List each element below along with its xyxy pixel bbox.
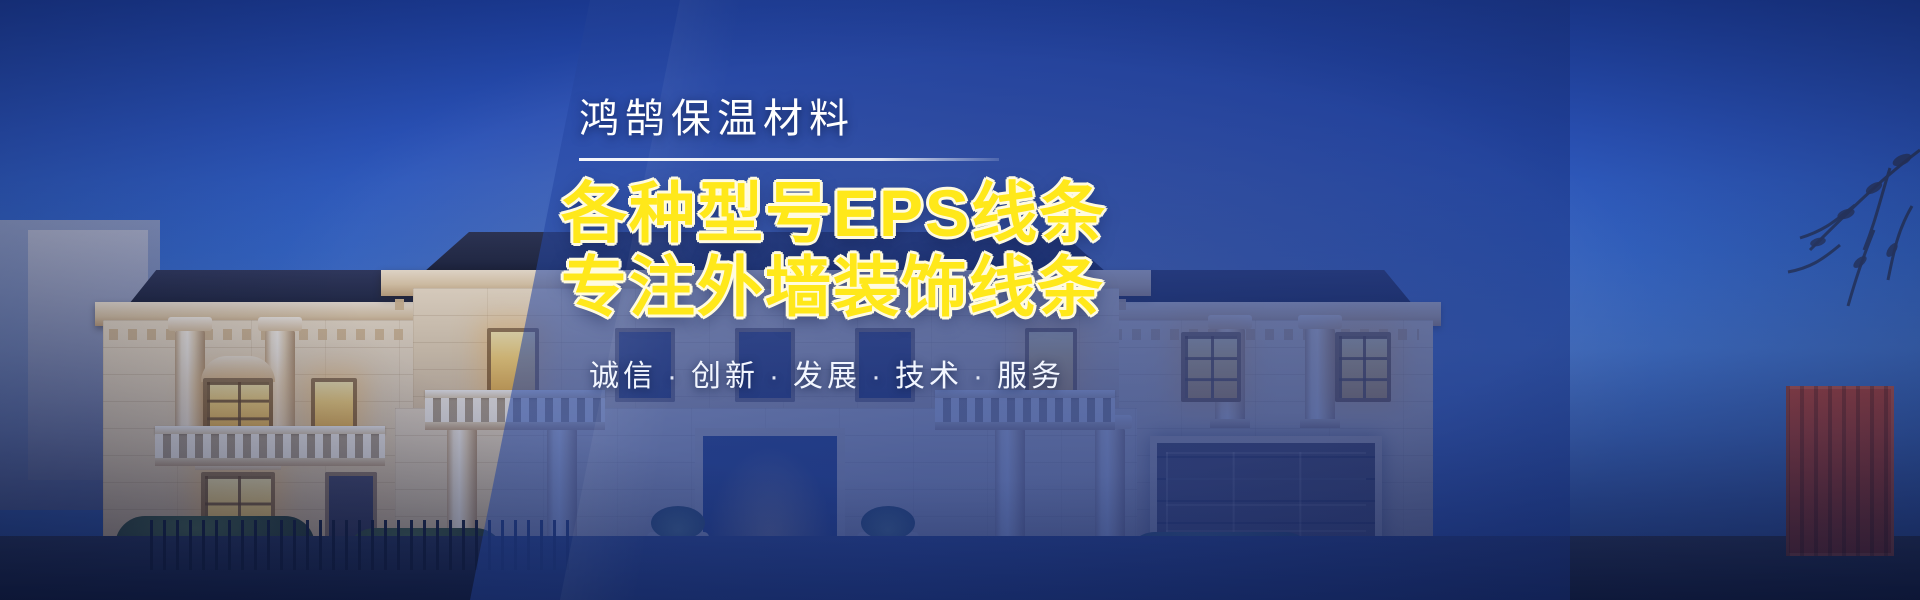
tagline-item: 创新: [691, 360, 759, 393]
tagline-item: 诚信: [589, 360, 657, 393]
iron-fence: [150, 520, 570, 570]
tagline-separator: ·: [769, 360, 783, 393]
red-container: [1786, 386, 1894, 556]
balustrade: [935, 390, 1115, 430]
tree-branch-icon: [1650, 110, 1920, 360]
tagline-separator: ·: [667, 360, 681, 393]
tagline-item: 服务: [997, 360, 1065, 393]
balustrade: [425, 390, 605, 430]
balustrade-rail: [155, 434, 385, 458]
divider-rule: [579, 158, 999, 161]
tagline-separator: ·: [871, 360, 885, 393]
tagline-item: 技术: [895, 360, 963, 393]
headline: 各种型号EPS线条 专注外墙装饰线条: [555, 177, 1455, 325]
tagline-separator: ·: [973, 360, 987, 393]
banner-text-block: 鸿鹄保温材料 各种型号EPS线条 专注外墙装饰线条 诚信·创新·发展·技术·服务: [555, 96, 1455, 395]
brand-name: 鸿鹄保温材料: [555, 96, 1455, 142]
hero-banner: 鸿鹄保温材料 各种型号EPS线条 专注外墙装饰线条 诚信·创新·发展·技术·服务: [0, 0, 1920, 600]
headline-line-2: 专注外墙装饰线条: [561, 251, 1455, 325]
tagline: 诚信·创新·发展·技术·服务: [555, 351, 1455, 395]
balustrade-rail: [935, 398, 1115, 422]
balustrade-rail: [425, 398, 605, 422]
container-ribs: [1786, 386, 1894, 556]
headline-line-1: 各种型号EPS线条: [561, 176, 1107, 250]
balustrade: [155, 426, 385, 466]
tagline-item: 发展: [793, 360, 861, 393]
